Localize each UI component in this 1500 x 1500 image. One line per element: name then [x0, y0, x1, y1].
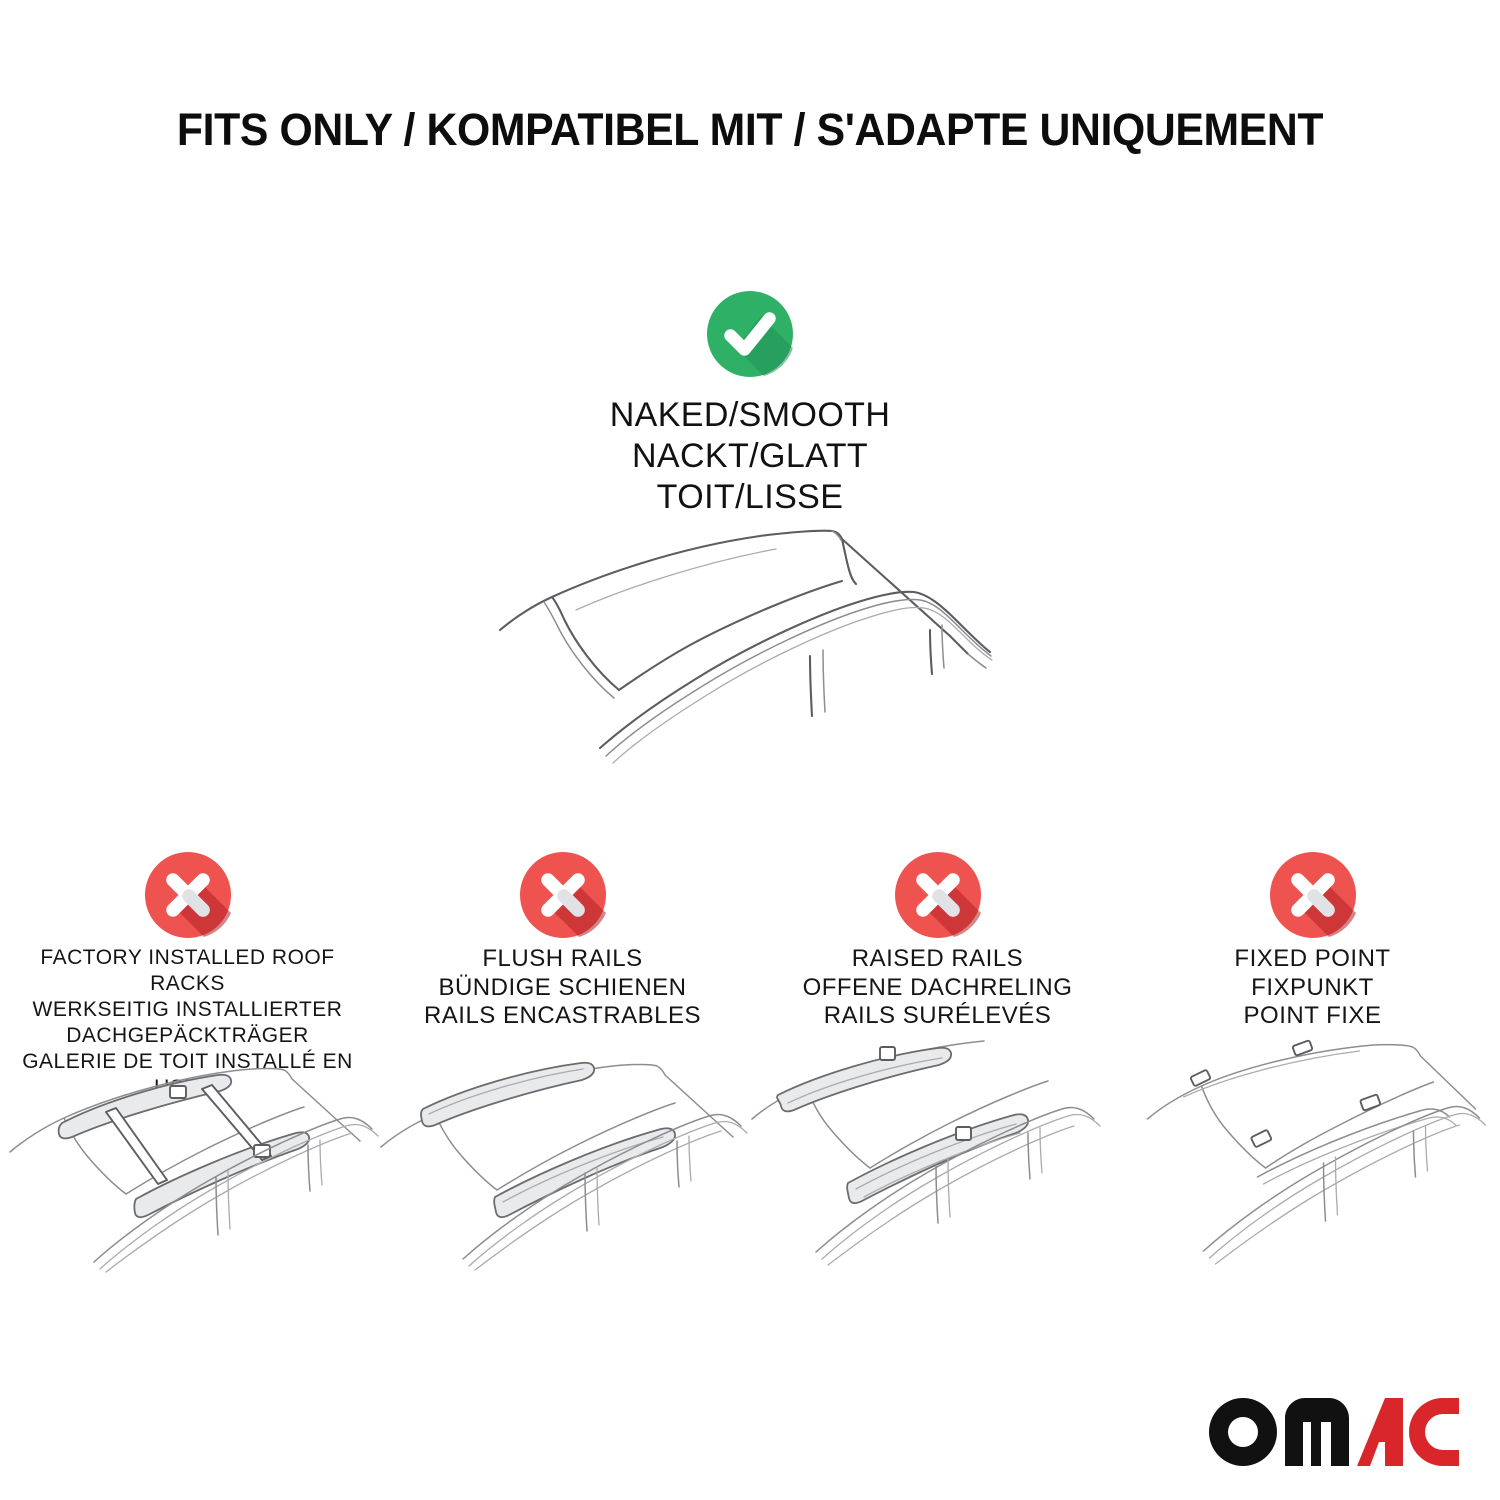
compatible-label-line-3: TOIT/LISSE	[390, 477, 1110, 518]
incompatible-item-factory-roof-rack: FACTORY INSTALLED ROOF RACKS WERKSEITIG …	[0, 845, 375, 1275]
factory-roof-rack-illustration	[0, 1057, 388, 1272]
label-line-1: RAISED RAILS	[756, 945, 1119, 974]
label-line-1: FIXED POINT	[1131, 945, 1494, 974]
label-line-3: POINT FIXE	[1131, 1002, 1494, 1031]
cross-icon	[144, 851, 232, 939]
compatible-label-line-2: NACKT/GLATT	[390, 436, 1110, 477]
label-line-2: BÜNDIGE SCHIENEN	[381, 974, 744, 1003]
logo-letter-o	[1209, 1398, 1277, 1466]
incompatible-label-fixed-point: FIXED POINT FIXPUNKT POINT FIXE	[1125, 945, 1500, 1031]
logo-letter-c	[1409, 1398, 1459, 1466]
incompatible-item-fixed-point: FIXED POINT FIXPUNKT POINT FIXE	[1125, 845, 1500, 1275]
label-line-3: RAILS ENCASTRABLES	[381, 1002, 744, 1031]
raised-rails-roof-illustration	[738, 1057, 1138, 1272]
cross-icon	[894, 851, 982, 939]
label-line-3: DACHGEPÄCKTRÄGER	[6, 1023, 369, 1049]
incompatible-section: FACTORY INSTALLED ROOF RACKS WERKSEITIG …	[0, 845, 1500, 1275]
compatible-label: NAKED/SMOOTH NACKT/GLATT TOIT/LISSE	[390, 395, 1110, 518]
label-line-1: FACTORY INSTALLED ROOF RACKS	[6, 945, 369, 997]
logo-letter-m	[1285, 1398, 1349, 1466]
compatible-section: NAKED/SMOOTH NACKT/GLATT TOIT/LISSE	[390, 290, 1110, 790]
fixed-point-roof-illustration	[1135, 1057, 1490, 1272]
label-line-2: WERKSEITIG INSTALLIERTER	[6, 997, 369, 1023]
label-line-2: FIXPUNKT	[1131, 974, 1494, 1003]
fitment-chart: FITS ONLY / KOMPATIBEL MIT / S'ADAPTE UN…	[0, 0, 1500, 1500]
page-title: FITS ONLY / KOMPATIBEL MIT / S'ADAPTE UN…	[38, 104, 1463, 156]
incompatible-label-flush-rails: FLUSH RAILS BÜNDIGE SCHIENEN RAILS ENCAS…	[375, 945, 750, 1031]
label-line-3: RAILS SURÉLEVÉS	[756, 1002, 1119, 1031]
check-icon	[706, 290, 794, 378]
cross-icon	[1269, 851, 1357, 939]
logo-letter-a	[1357, 1398, 1403, 1466]
label-line-2: OFFENE DACHRELING	[756, 974, 1119, 1003]
naked-smooth-roof-illustration	[480, 518, 1040, 783]
incompatible-label-raised-rails: RAISED RAILS OFFENE DACHRELING RAILS SUR…	[750, 945, 1125, 1031]
cross-icon	[519, 851, 607, 939]
incompatible-item-raised-rails: RAISED RAILS OFFENE DACHRELING RAILS SUR…	[750, 845, 1125, 1275]
label-line-1: FLUSH RAILS	[381, 945, 744, 974]
flush-rails-roof-illustration	[363, 1057, 763, 1272]
compatible-label-line-1: NAKED/SMOOTH	[390, 395, 1110, 436]
incompatible-item-flush-rails: FLUSH RAILS BÜNDIGE SCHIENEN RAILS ENCAS…	[375, 845, 750, 1275]
omac-logo	[1207, 1396, 1462, 1478]
